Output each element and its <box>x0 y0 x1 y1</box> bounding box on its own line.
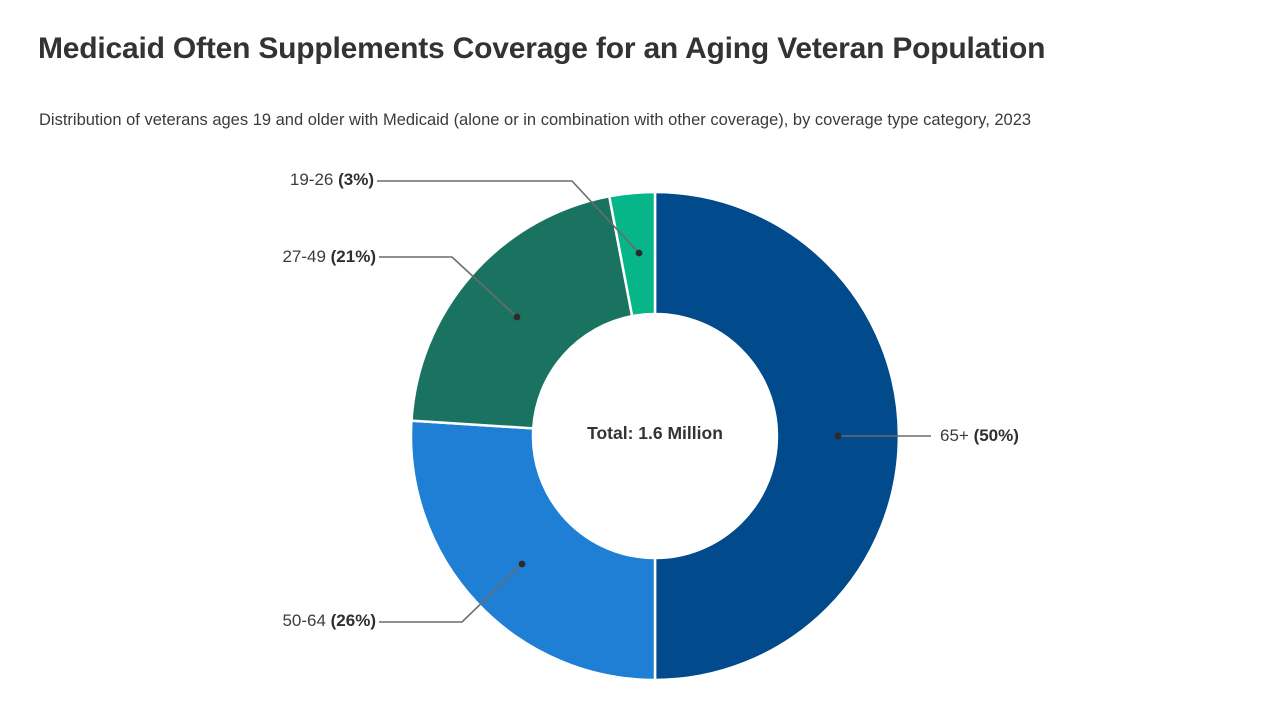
donut-slice-50-64[interactable] <box>411 421 655 680</box>
slice-label-27-49-category: 27-49 <box>282 247 330 266</box>
slice-label-50-64-category: 50-64 <box>282 611 330 630</box>
slice-label-19-26-percent: (3%) <box>338 170 374 189</box>
leader-dot-65-plus <box>835 433 842 440</box>
leader-dot-19-26 <box>636 250 643 257</box>
slice-label-27-49[interactable]: 27-49 (21%) <box>258 248 376 265</box>
donut-slice-27-49[interactable] <box>411 196 632 428</box>
slice-label-65-plus[interactable]: 65+ (50%) <box>940 427 1060 444</box>
slice-label-50-64-percent: (26%) <box>331 611 376 630</box>
slice-label-50-64[interactable]: 50-64 (26%) <box>258 612 376 629</box>
chart-page: Medicaid Often Supplements Coverage for … <box>0 0 1280 720</box>
donut-chart-svg <box>0 0 1280 720</box>
slice-label-65-plus-percent: (50%) <box>974 426 1019 445</box>
donut-chart: Total: 1.6 Million 19-26 (3%) 27-49 (21%… <box>0 0 1280 720</box>
slice-label-27-49-percent: (21%) <box>331 247 376 266</box>
donut-center-total: Total: 1.6 Million <box>535 423 775 444</box>
slice-label-19-26-category: 19-26 <box>290 170 338 189</box>
slice-label-19-26[interactable]: 19-26 (3%) <box>270 171 374 188</box>
leader-dot-27-49 <box>514 314 521 321</box>
slice-label-65-plus-category: 65+ <box>940 426 974 445</box>
leader-dot-50-64 <box>519 561 526 568</box>
